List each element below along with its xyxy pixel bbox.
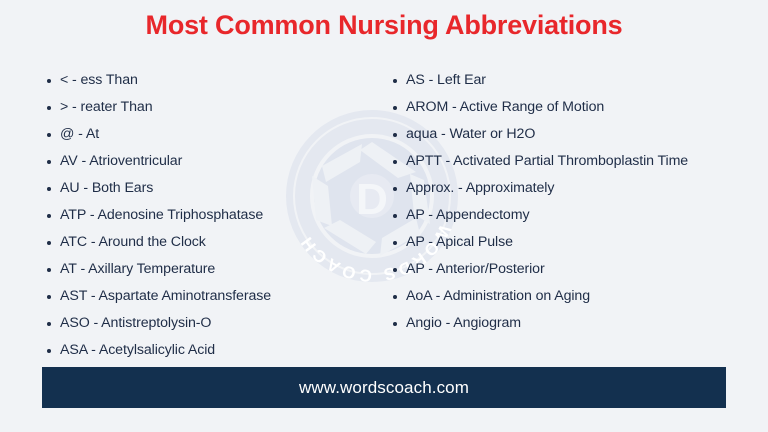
left-abbreviation-list: < - ess Than > - reater Than @ - At AV -… (42, 70, 382, 362)
left-column: < - ess Than > - reater Than @ - At AV -… (42, 70, 382, 367)
poster: D WORDS COACH Most Common Nursing Abbrev… (0, 0, 768, 432)
abbreviation-columns: < - ess Than > - reater Than @ - At AV -… (0, 70, 768, 355)
list-item: > - reater Than (42, 97, 382, 119)
list-item: ASO - Antistreptolysin-O (42, 313, 382, 335)
list-item: Angio - Angiogram (388, 313, 728, 335)
list-item: @ - At (42, 124, 382, 146)
list-item: AP - Apical Pulse (388, 232, 728, 254)
list-item: ASA - Acetylsalicylic Acid (42, 340, 382, 362)
list-item: AV - Atrioventricular (42, 151, 382, 173)
list-item: ATP - Adenosine Triphosphatase (42, 205, 382, 227)
list-item: APTT - Activated Partial Thromboplastin … (388, 151, 728, 173)
website-url[interactable]: www.wordscoach.com (299, 378, 469, 398)
footer-bar: www.wordscoach.com (42, 367, 726, 408)
list-item: AU - Both Ears (42, 178, 382, 200)
list-item: AoA - Administration on Aging (388, 286, 728, 308)
list-item: AT - Axillary Temperature (42, 259, 382, 281)
list-item: aqua - Water or H2O (388, 124, 728, 146)
list-item: AROM - Active Range of Motion (388, 97, 728, 119)
list-item: AP - Anterior/Posterior (388, 259, 728, 281)
list-item: AST - Aspartate Aminotransferase (42, 286, 382, 308)
list-item: AS - Left Ear (388, 70, 728, 92)
right-column: AS - Left Ear AROM - Active Range of Mot… (388, 70, 728, 340)
list-item: Approx. - Approximately (388, 178, 728, 200)
list-item: ATC - Around the Clock (42, 232, 382, 254)
right-abbreviation-list: AS - Left Ear AROM - Active Range of Mot… (388, 70, 728, 335)
list-item: AP - Appendectomy (388, 205, 728, 227)
page-title: Most Common Nursing Abbreviations (0, 10, 768, 41)
list-item: < - ess Than (42, 70, 382, 92)
